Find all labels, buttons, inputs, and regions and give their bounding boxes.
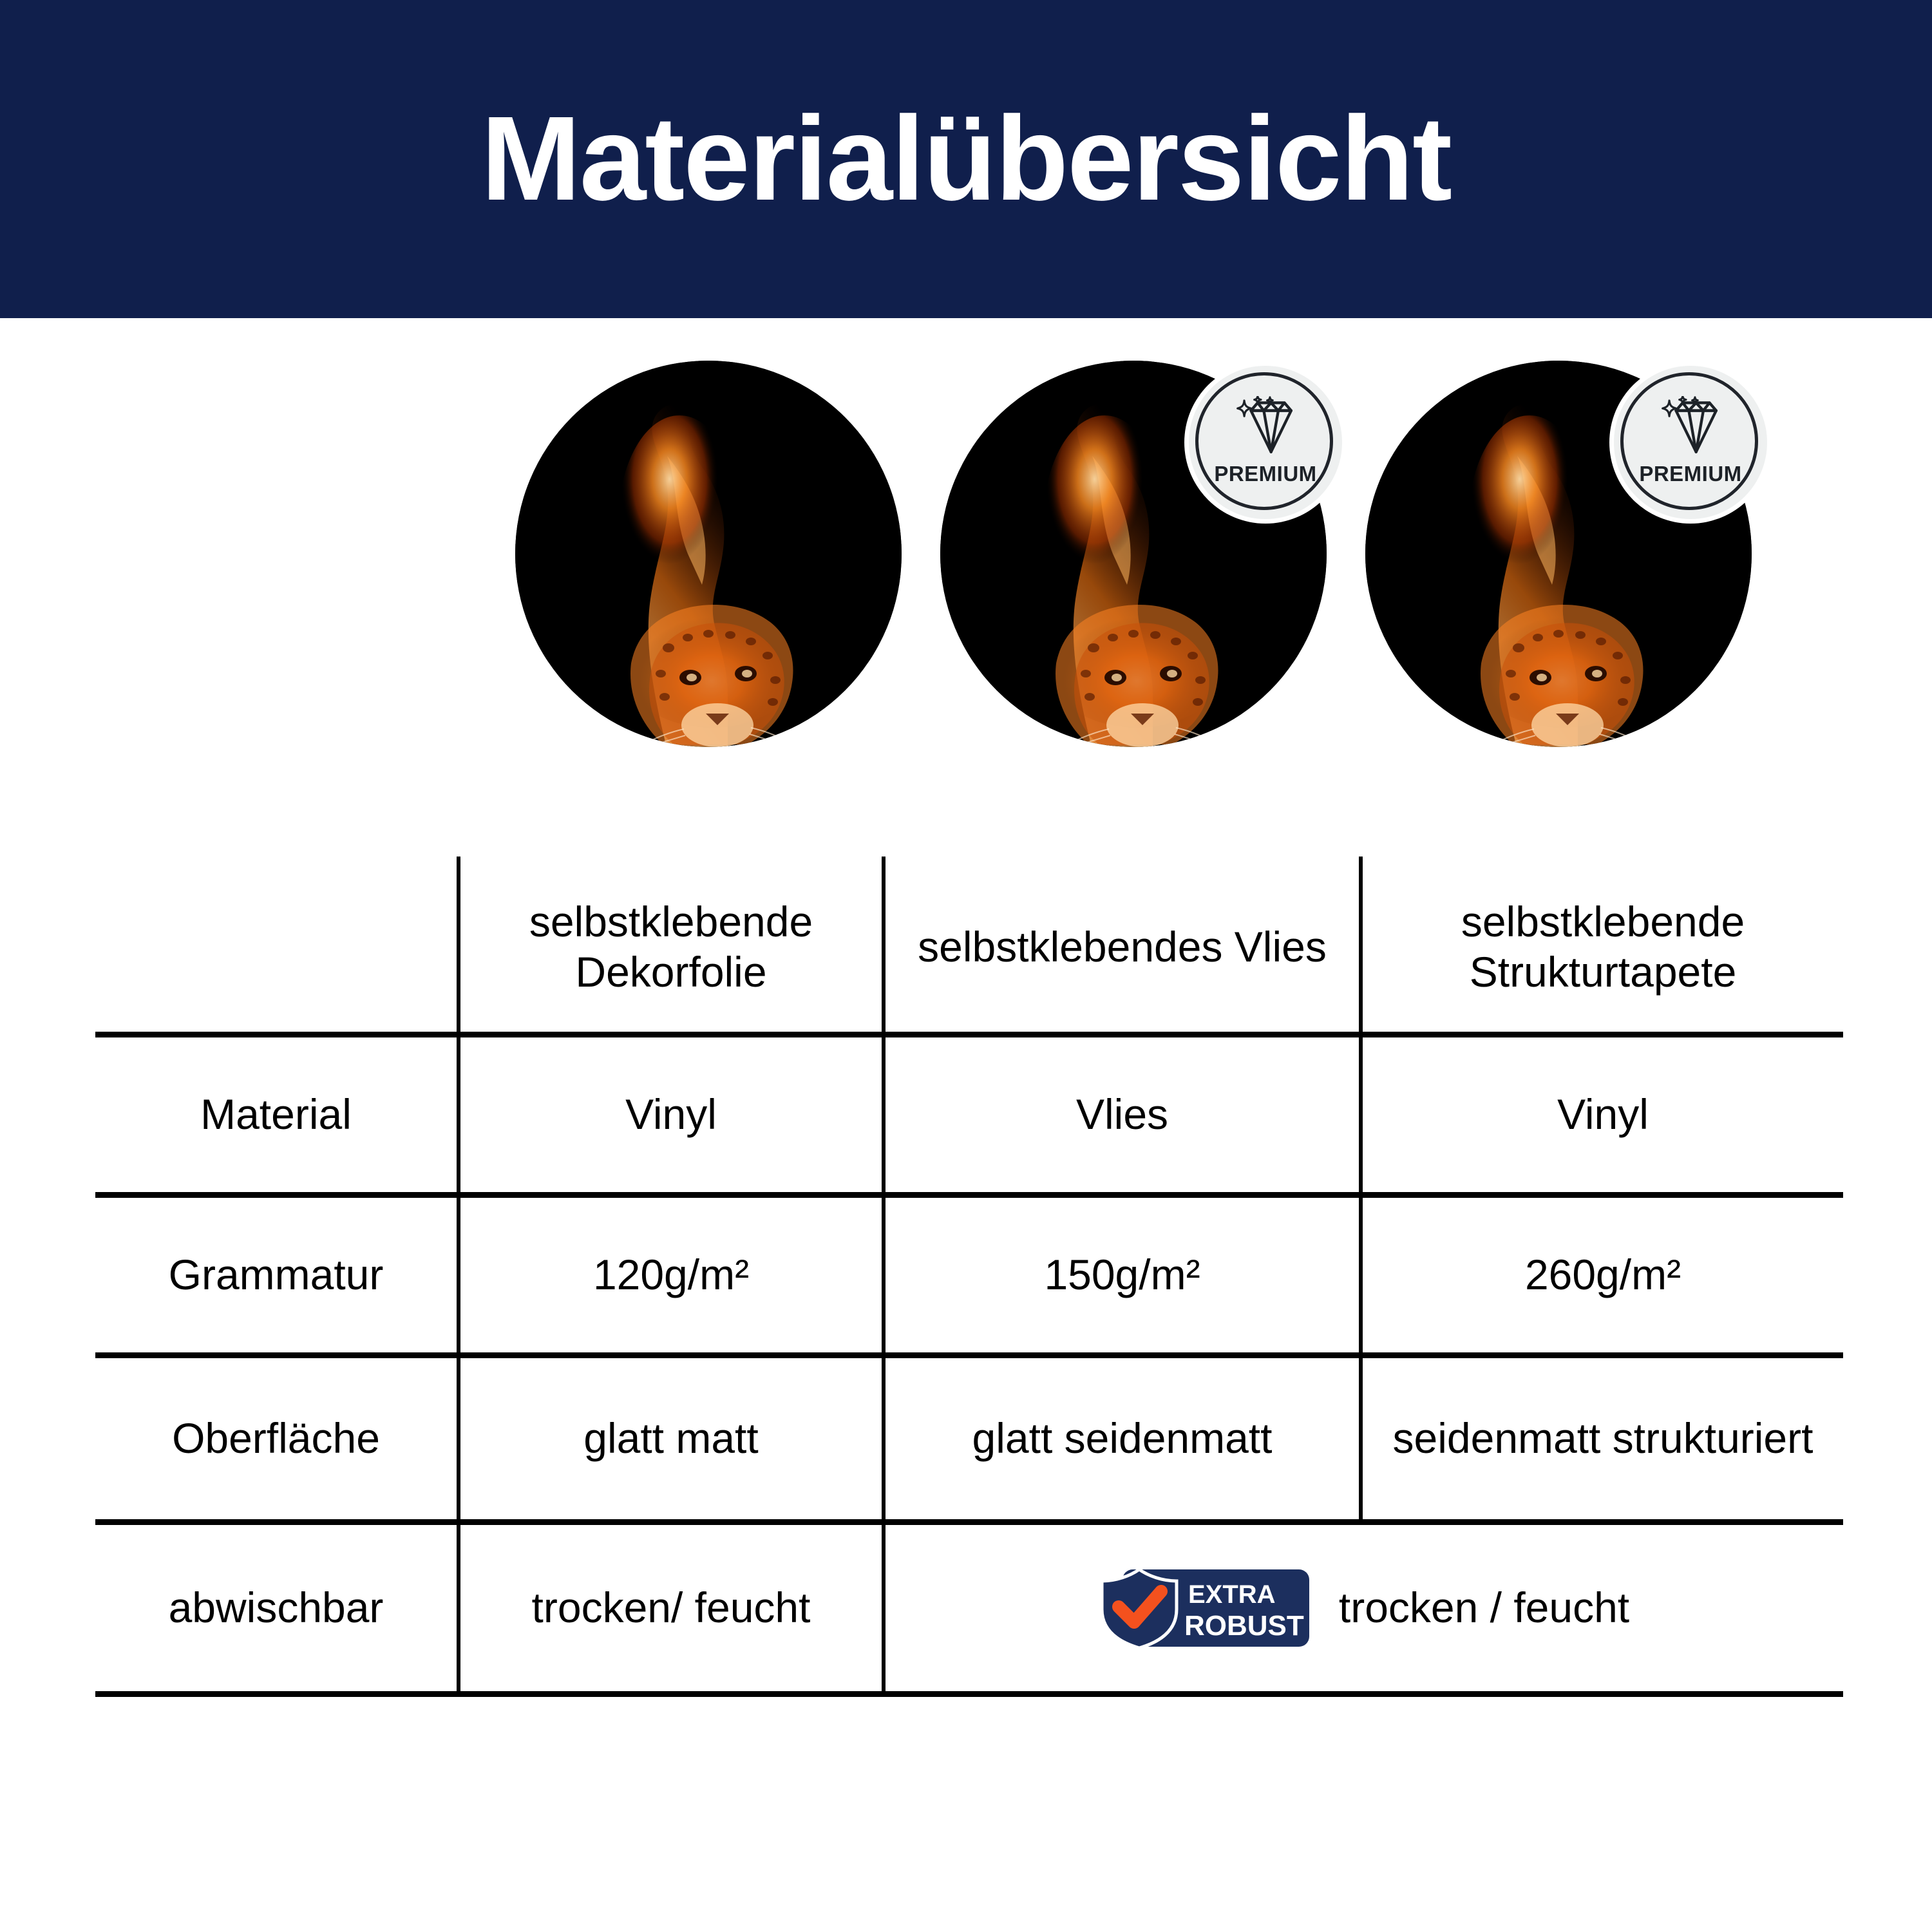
- product-image-1: [515, 361, 902, 747]
- diamond-icon: [1232, 396, 1299, 455]
- cell-material-strukturtapete: Vinyl: [1361, 1035, 1843, 1195]
- cell-material-dekorfolie: Vinyl: [459, 1035, 884, 1195]
- column-header-strukturtapete: selbstklebende Strukturtapete: [1361, 857, 1843, 1035]
- material-spec-table: selbstklebende Dekorfolie selbstklebende…: [95, 857, 1843, 1697]
- cell-grammatur-strukturtapete: 260g/m²: [1361, 1195, 1843, 1356]
- cell-abwischbar-merged: EXTRA ROBUST trocken / feucht: [884, 1522, 1843, 1694]
- extra-robust-badge-graphic: EXTRA ROBUST: [1099, 1567, 1312, 1649]
- table-row-grammatur: Grammatur 120g/m² 150g/m² 260g/m²: [95, 1195, 1843, 1356]
- bottom-rule-cell-2: [459, 1694, 884, 1698]
- row-label-grammatur: Grammatur: [95, 1195, 459, 1356]
- premium-badge-label: PREMIUM: [1639, 462, 1741, 486]
- cell-material-vlies: Vlies: [884, 1035, 1361, 1195]
- cell-oberflaeche-vlies: glatt seidenmatt: [884, 1356, 1361, 1522]
- premium-badge: PREMIUM: [1189, 366, 1342, 519]
- premium-badge-label: PREMIUM: [1214, 462, 1316, 486]
- extra-robust-line2: ROBUST: [1184, 1610, 1304, 1642]
- premium-badge: PREMIUM: [1614, 366, 1767, 519]
- bottom-rule-cell-4: [1361, 1694, 1843, 1698]
- table-row-material: Material Vinyl Vlies Vinyl: [95, 1035, 1843, 1195]
- material-overview-infographic: Materialübersicht: [0, 0, 1932, 1932]
- row-label-abwischbar: abwischbar: [95, 1522, 459, 1694]
- column-header-vlies: selbstklebendes Vlies: [884, 857, 1361, 1035]
- row-label-oberflaeche: Oberfläche: [95, 1356, 459, 1522]
- flaming-leopard-image: [515, 361, 902, 747]
- table-row-oberflaeche: Oberfläche glatt matt glatt seidenmatt s…: [95, 1356, 1843, 1522]
- extra-robust-badge: EXTRA ROBUST: [1099, 1567, 1312, 1649]
- page-title: Materialübersicht: [481, 99, 1451, 219]
- cell-grammatur-dekorfolie: 120g/m²: [459, 1195, 884, 1356]
- diamond-icon: [1657, 396, 1724, 455]
- row-label-material: Material: [95, 1035, 459, 1195]
- cell-grammatur-vlies: 150g/m²: [884, 1195, 1361, 1356]
- extra-robust-line1: EXTRA: [1188, 1580, 1276, 1609]
- bottom-rule-cell-1: [95, 1694, 459, 1698]
- product-preview-2[interactable]: PREMIUM: [940, 361, 1327, 747]
- cell-oberflaeche-dekorfolie: glatt matt: [459, 1356, 884, 1522]
- header-band: Materialübersicht: [0, 0, 1932, 318]
- column-header-dekorfolie: selbstklebende Dekorfolie: [459, 857, 884, 1035]
- product-preview-row: PREMIUM: [0, 361, 1932, 760]
- cell-oberflaeche-strukturtapete: seidenmatt strukturiert: [1361, 1356, 1843, 1522]
- table-bottom-rule: [95, 1694, 1843, 1698]
- product-preview-1[interactable]: [515, 361, 902, 747]
- cell-abwischbar-value: trocken / feucht: [1339, 1583, 1629, 1633]
- table-corner-cell: [95, 857, 459, 1035]
- product-preview-3[interactable]: PREMIUM: [1365, 361, 1752, 747]
- bottom-rule-cell-3: [884, 1694, 1361, 1698]
- cell-abwischbar-dekorfolie: trocken/ feucht: [459, 1522, 884, 1694]
- table-row-abwischbar: abwischbar trocken/ feucht EXTRA ROBUST: [95, 1522, 1843, 1694]
- table-header-row: selbstklebende Dekorfolie selbstklebende…: [95, 857, 1843, 1035]
